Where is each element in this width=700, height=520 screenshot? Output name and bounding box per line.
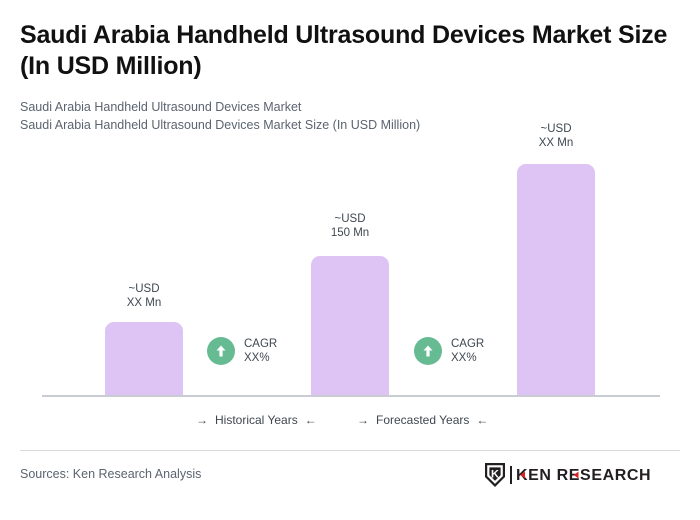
cagr-badge-2[interactable]: CAGR XX% [414, 337, 484, 365]
cagr-badge-1-label: CAGR [244, 337, 277, 351]
bar-label-2: ~USD 150 Mn [311, 212, 389, 240]
bar-chart: ~USD XX Mn CAGR XX% ~USD 150 Mn [0, 110, 700, 410]
bar-label-3: ~USD XX Mn [517, 122, 595, 150]
bar-label-2-amount: 150 Mn [311, 226, 389, 240]
bar-label-2-currency: ~USD [311, 212, 389, 226]
cagr-badge-2-label: CAGR [451, 337, 484, 351]
cagr-badge-1-text: CAGR XX% [244, 337, 277, 365]
ken-research-logo: K KEN RESEARCH [484, 462, 668, 488]
chart-page: Saudi Arabia Handheld Ultrasound Devices… [0, 0, 700, 520]
page-title: Saudi Arabia Handheld Ultrasound Devices… [20, 20, 680, 82]
period-label-historical-text: Historical Years [208, 413, 305, 427]
bar-label-1-currency: ~USD [105, 282, 183, 296]
period-label-historical: →Historical Years← [196, 409, 317, 431]
bar-2[interactable] [311, 256, 389, 395]
shield-k-icon: K [484, 462, 506, 488]
bar-label-1-amount: XX Mn [105, 296, 183, 310]
arrow-left-icon: ← [476, 413, 488, 427]
x-axis-line [42, 395, 660, 397]
period-label-forecasted-text: Forecasted Years [369, 413, 476, 427]
bar-label-3-amount: XX Mn [517, 136, 595, 150]
cagr-badge-1-value: XX% [244, 351, 277, 365]
arrow-up-icon [414, 337, 442, 365]
arrow-left-icon: ← [305, 413, 317, 427]
bar-1[interactable] [105, 322, 183, 395]
arrow-right-icon: → [196, 413, 208, 427]
logo-wordmark: KEN RESEARCH [516, 465, 668, 485]
period-labels-row: →Historical Years← →Forecasted Years← [0, 409, 700, 431]
sources-text: Sources: Ken Research Analysis [20, 466, 201, 482]
cagr-badge-1[interactable]: CAGR XX% [207, 337, 277, 365]
svg-text:KEN RESEARCH: KEN RESEARCH [516, 467, 651, 484]
cagr-badge-2-text: CAGR XX% [451, 337, 484, 365]
bar-label-1: ~USD XX Mn [105, 282, 183, 310]
bar-label-3-currency: ~USD [517, 122, 595, 136]
bar-3[interactable] [517, 164, 595, 395]
logo-divider [510, 466, 512, 484]
cagr-badge-2-value: XX% [451, 351, 484, 365]
arrow-right-icon: → [357, 413, 369, 427]
svg-text:K: K [491, 468, 499, 480]
footer-divider [20, 450, 680, 451]
period-label-forecasted: →Forecasted Years← [357, 409, 488, 431]
arrow-up-icon [207, 337, 235, 365]
